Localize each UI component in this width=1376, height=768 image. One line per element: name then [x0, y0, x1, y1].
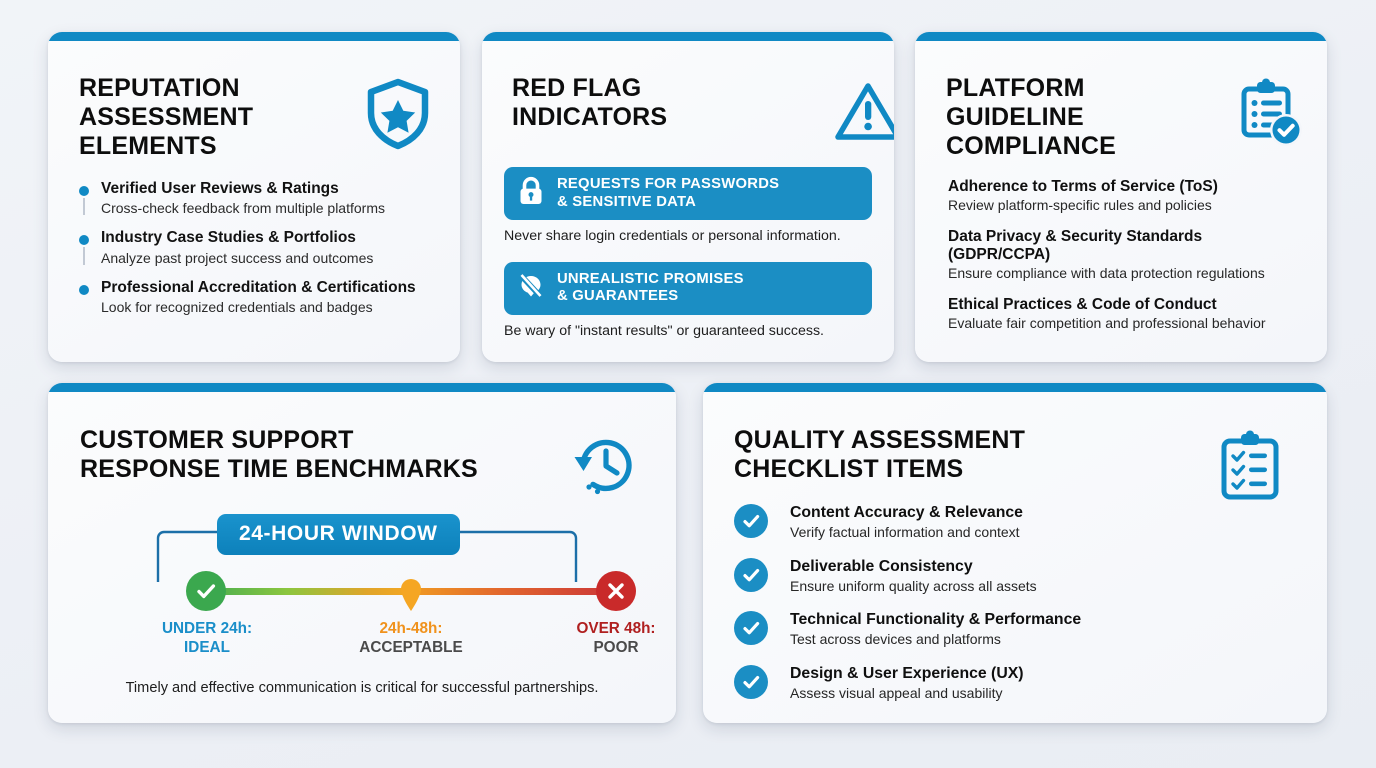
card-quality-assessment-checklist: QUALITY ASSESSMENT CHECKLIST ITEMS — [703, 383, 1327, 723]
list-item-sub: Cross-check feedback from multiple platf… — [101, 199, 439, 217]
badge-label: UNREALISTIC PROMISES & GUARANTEES — [557, 271, 744, 305]
list-item: Design & User Experience (UX) Assess vis… — [734, 665, 1274, 703]
list-item-title: Design & User Experience (UX) — [790, 665, 1274, 683]
check-marker-icon — [186, 571, 226, 611]
list-item-title: Data Privacy & Security Standards (GDPR/… — [948, 228, 1314, 265]
timeline-window-pill: 24-HOUR WINDOW — [217, 514, 460, 555]
no-promise-icon — [518, 271, 544, 306]
infographic-page: REPUTATION ASSESSMENT ELEMENTS Verified … — [0, 0, 1376, 768]
timeline-label-under-24h: UNDER 24h: IDEAL — [136, 620, 278, 657]
card-accent-bar — [482, 32, 894, 41]
list-item: Deliverable Consistency Ensure uniform q… — [734, 558, 1274, 596]
red-flag-badge-group: REQUESTS FOR PASSWORDS & SENSITIVE DATA … — [504, 167, 872, 341]
check-circle-icon — [734, 665, 768, 699]
check-circle-icon — [734, 504, 768, 538]
badge-note: Be wary of "instant results" or guarante… — [504, 323, 872, 341]
card-platform-guideline-compliance: PLATFORM GUIDELINE COMPLIANCE — [915, 32, 1327, 362]
bullet-dot-icon — [79, 186, 89, 196]
label-line-1: 24h-48h: — [335, 620, 487, 639]
list-item-sub: Review platform-specific rules and polic… — [948, 197, 1314, 215]
label-line-2: POOR — [545, 639, 676, 658]
list-item: Technical Functionality & Performance Te… — [734, 611, 1274, 649]
list-item-title: Content Accuracy & Relevance — [790, 504, 1274, 522]
list-item: Professional Accreditation & Certificati… — [79, 279, 439, 316]
cross-marker-icon — [596, 571, 636, 611]
list-item-sub: Look for recognized credentials and badg… — [101, 298, 439, 316]
page-title-reputation: REPUTATION ASSESSMENT ELEMENTS — [79, 74, 369, 161]
timeline-label-over-48h: OVER 48h: POOR — [545, 620, 676, 657]
card-accent-bar — [915, 32, 1327, 41]
badge-note: Never share login credentials or persona… — [504, 228, 872, 246]
card-reputation-assessment: REPUTATION ASSESSMENT ELEMENTS Verified … — [48, 32, 460, 362]
label-line-2: IDEAL — [136, 639, 278, 658]
shield-star-icon — [365, 77, 431, 156]
list-item-title: Verified User Reviews & Ratings — [101, 180, 439, 198]
warning-triangle-icon — [834, 81, 894, 148]
bullet-dot-icon — [79, 285, 89, 295]
badge-label: REQUESTS FOR PASSWORDS & SENSITIVE DATA — [557, 176, 779, 210]
clock-rewind-icon — [569, 431, 645, 504]
page-title-compliance: PLATFORM GUIDELINE COMPLIANCE — [946, 74, 1206, 161]
list-item-title: Ethical Practices & Code of Conduct — [948, 296, 1314, 314]
check-circle-icon — [734, 558, 768, 592]
list-item-sub: Assess visual appeal and usability — [790, 685, 1274, 703]
badge-requests-for-passwords[interactable]: REQUESTS FOR PASSWORDS & SENSITIVE DATA — [504, 167, 872, 220]
check-circle-icon — [734, 611, 768, 645]
list-item-sub: Verify factual information and context — [790, 524, 1274, 542]
list-item: Verified User Reviews & Ratings Cross-ch… — [79, 180, 439, 217]
timeline-label-24h-48h: 24h-48h: ACCEPTABLE — [335, 620, 487, 657]
list-item-title: Industry Case Studies & Portfolios — [101, 229, 439, 247]
list-item: Adherence to Terms of Service (ToS) Revi… — [948, 178, 1314, 215]
page-title-quality: QUALITY ASSESSMENT CHECKLIST ITEMS — [734, 426, 1194, 484]
card-accent-bar — [48, 383, 676, 392]
response-time-timeline: 24-HOUR WINDOW — [48, 502, 676, 682]
bullet-dot-icon — [79, 235, 89, 245]
page-title-red-flags: RED FLAG INDICATORS — [512, 74, 762, 132]
card-accent-bar — [48, 32, 460, 41]
clipboard-check-icon — [1235, 77, 1305, 156]
label-line-1: UNDER 24h: — [136, 620, 278, 639]
list-item-sub: Analyze past project success and outcome… — [101, 249, 439, 267]
dot-marker-icon — [397, 574, 425, 612]
support-footer-note: Timely and effective communication is cr… — [48, 680, 676, 696]
card-red-flag-indicators: RED FLAG INDICATORS — [482, 32, 894, 362]
badge-unrealistic-promises[interactable]: UNREALISTIC PROMISES & GUARANTEES — [504, 262, 872, 315]
list-item-sub: Ensure uniform quality across all assets — [790, 578, 1274, 596]
list-item-sub: Evaluate fair competition and profession… — [948, 315, 1314, 333]
list-item: Industry Case Studies & Portfolios Analy… — [79, 229, 439, 266]
timeline-track-right — [411, 588, 611, 595]
quality-check-list: Content Accuracy & Relevance Verify fact… — [734, 504, 1274, 703]
card-customer-support-benchmarks: CUSTOMER SUPPORT RESPONSE TIME BENCHMARK… — [48, 383, 676, 723]
list-item: Ethical Practices & Code of Conduct Eval… — [948, 296, 1314, 333]
list-item: Data Privacy & Security Standards (GDPR/… — [948, 228, 1314, 283]
label-line-2: ACCEPTABLE — [335, 639, 487, 658]
bullet-stem-line — [83, 247, 85, 264]
compliance-item-list: Adherence to Terms of Service (ToS) Revi… — [948, 178, 1314, 333]
list-item-sub: Test across devices and platforms — [790, 631, 1274, 649]
label-line-1: OVER 48h: — [545, 620, 676, 639]
timeline-track-left — [211, 588, 411, 595]
reputation-bullet-list: Verified User Reviews & Ratings Cross-ch… — [79, 180, 439, 316]
list-item-title: Adherence to Terms of Service (ToS) — [948, 178, 1314, 196]
list-item-title: Deliverable Consistency — [790, 558, 1274, 576]
list-item: Content Accuracy & Relevance Verify fact… — [734, 504, 1274, 542]
bullet-stem-line — [83, 198, 85, 215]
clipboard-checklist-icon — [1218, 429, 1284, 508]
card-accent-bar — [703, 383, 1327, 392]
list-item-sub: Ensure compliance with data protection r… — [948, 265, 1314, 283]
page-title-support: CUSTOMER SUPPORT RESPONSE TIME BENCHMARK… — [80, 426, 560, 484]
lock-icon — [518, 176, 544, 211]
list-item-title: Technical Functionality & Performance — [790, 611, 1274, 629]
list-item-title: Professional Accreditation & Certificati… — [101, 279, 439, 297]
